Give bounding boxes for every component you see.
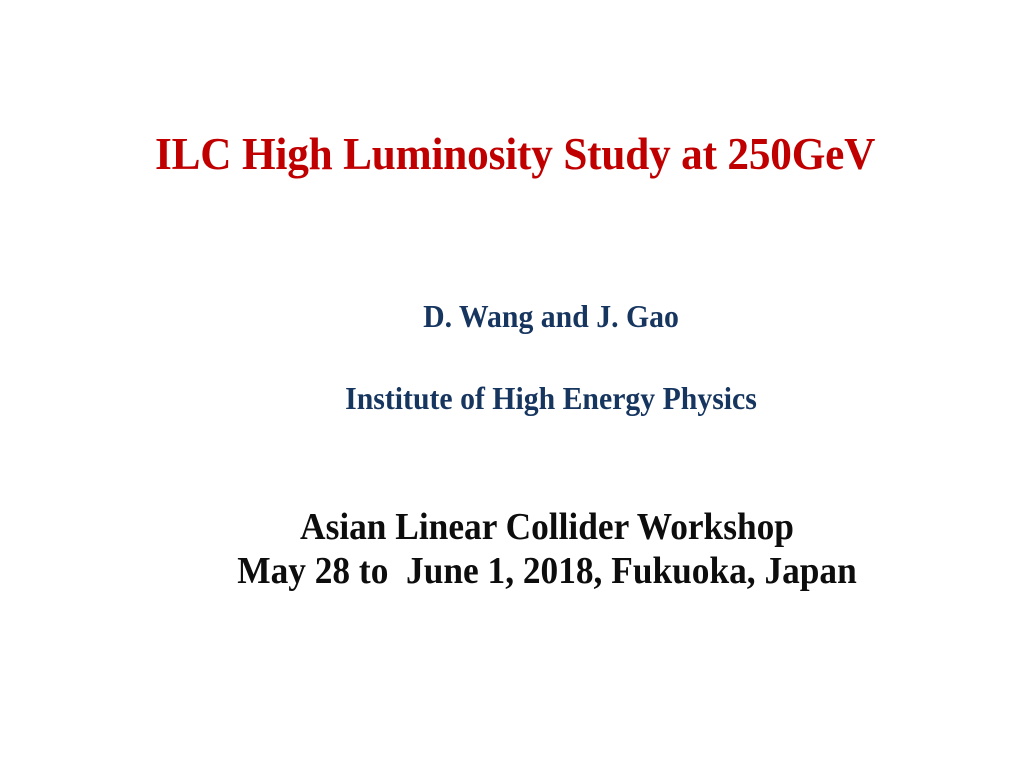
event-dates-location: May 28 to June 1, 2018, Fukuoka, Japan	[103, 549, 990, 593]
page-title: ILC High Luminosity Study at 250GeV	[155, 128, 875, 180]
title-block: ILC High Luminosity Study at 250GeV	[0, 128, 1024, 180]
event-name: Asian Linear Collider Workshop	[103, 505, 990, 549]
author-block: D. Wang and J. Gao Institute of High Ene…	[0, 296, 1024, 418]
event-block: Asian Linear Collider Workshop May 28 to…	[0, 505, 1024, 593]
title-slide: ILC High Luminosity Study at 250GeV D. W…	[0, 0, 1024, 768]
affiliation-name: Institute of High Energy Physics	[111, 378, 991, 418]
author-affiliation-spacer	[0, 336, 1024, 378]
author-names: D. Wang and J. Gao	[111, 296, 991, 336]
